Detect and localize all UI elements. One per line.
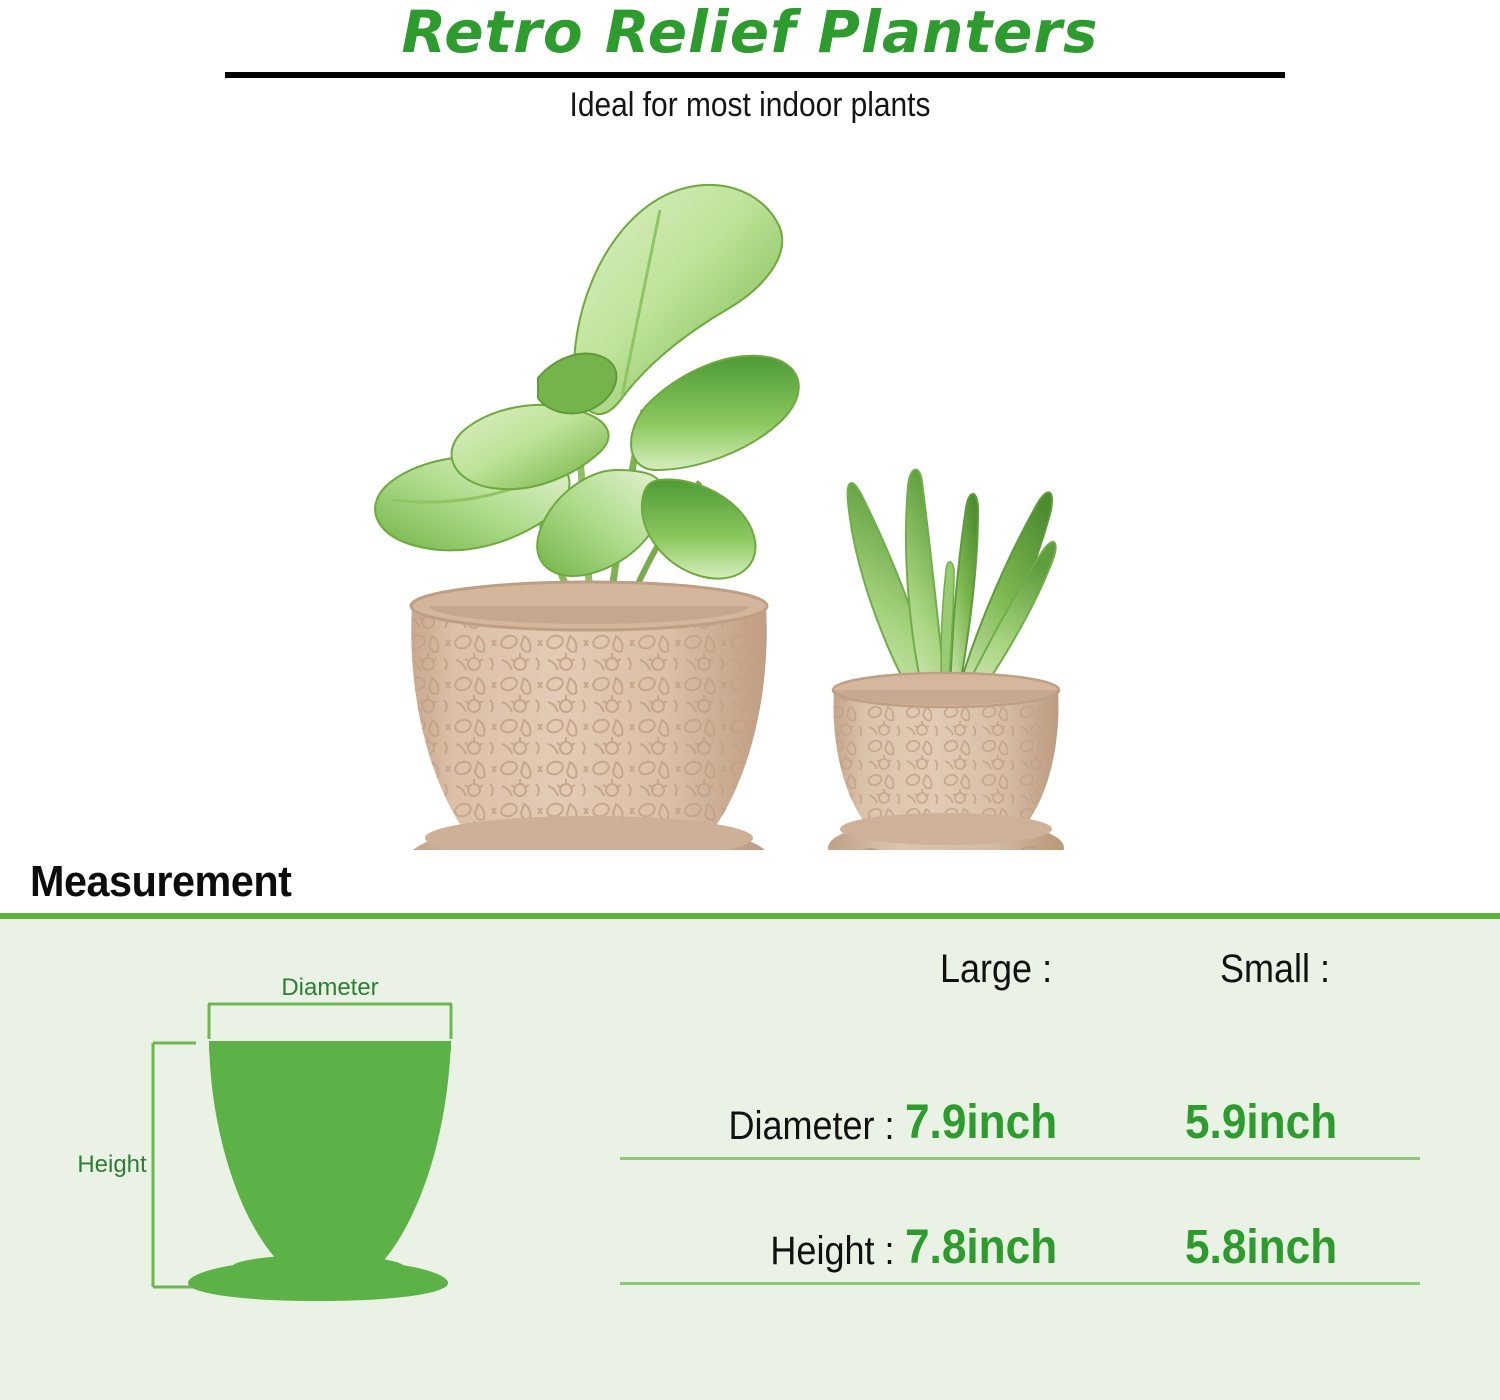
measurement-heading: Measurement	[30, 857, 291, 907]
syngonium-leaves	[375, 185, 799, 606]
title-divider	[225, 72, 1285, 78]
column-header-large: Large :	[940, 947, 1052, 992]
diameter-dimension-line	[208, 1004, 452, 1039]
header: Retro Relief Planters Ideal for most ind…	[0, 0, 1500, 140]
product-photo	[0, 140, 1500, 850]
row-label-height: Height :	[652, 1229, 895, 1274]
measurement-panel: Diameter Height Large : Small : Diameter…	[0, 919, 1500, 1400]
snake-plant-leaves	[848, 470, 1056, 700]
large-pot-body	[411, 582, 767, 850]
value-height-large: 7.8inch	[905, 1220, 1057, 1275]
diameter-label: Diameter	[281, 974, 378, 1001]
small-planter-image	[790, 330, 1100, 850]
dimension-diagram: Diameter Height	[0, 919, 540, 1400]
row-divider-2	[620, 1282, 1420, 1285]
height-label: Height	[77, 1151, 147, 1178]
page-subtitle: Ideal for most indoor plants	[90, 86, 1410, 125]
row-label-diameter: Diameter :	[652, 1104, 895, 1149]
column-header-small: Small :	[1220, 947, 1330, 992]
large-planter-image	[360, 170, 820, 850]
value-height-small: 5.8inch	[1185, 1220, 1337, 1275]
page-title: Retro Relief Planters	[0, 2, 1500, 63]
value-diameter-small: 5.9inch	[1185, 1095, 1337, 1150]
pot-silhouette	[188, 1041, 451, 1301]
row-divider-1	[620, 1157, 1420, 1160]
height-dimension-line	[153, 1043, 212, 1287]
value-diameter-large: 7.9inch	[905, 1095, 1057, 1150]
spec-table: Large : Small : Diameter : 7.9inch 5.9in…	[620, 929, 1430, 1369]
